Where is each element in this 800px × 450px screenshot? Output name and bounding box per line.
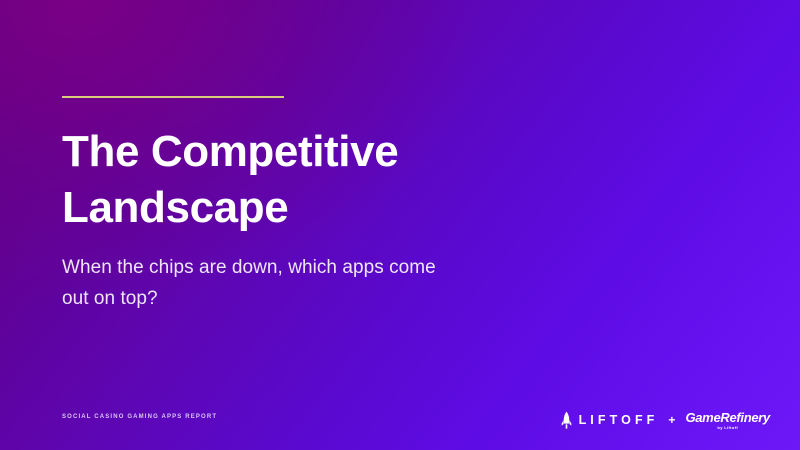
gamerefinery-wordmark: GameRefinery <box>685 411 770 424</box>
liftoff-logo: LIFTOFF <box>561 411 659 429</box>
accent-rule <box>62 96 284 98</box>
plus-separator: + <box>667 414 676 426</box>
gamerefinery-logo: GameRefinery by Liftoff <box>685 411 770 430</box>
rocket-icon <box>561 411 572 429</box>
page-title: The Competitive Landscape <box>62 124 492 236</box>
title-block: The Competitive Landscape When the chips… <box>62 96 492 314</box>
brand-lockup: LIFTOFF + GameRefinery by Liftoff <box>561 408 770 432</box>
liftoff-wordmark: LIFTOFF <box>579 414 659 427</box>
gamerefinery-byline: by Liftoff <box>717 426 738 430</box>
report-label: SOCIAL CASINO GAMING APPS REPORT <box>62 414 217 420</box>
title-slide: The Competitive Landscape When the chips… <box>0 0 800 450</box>
page-subtitle: When the chips are down, which apps come… <box>62 252 462 314</box>
